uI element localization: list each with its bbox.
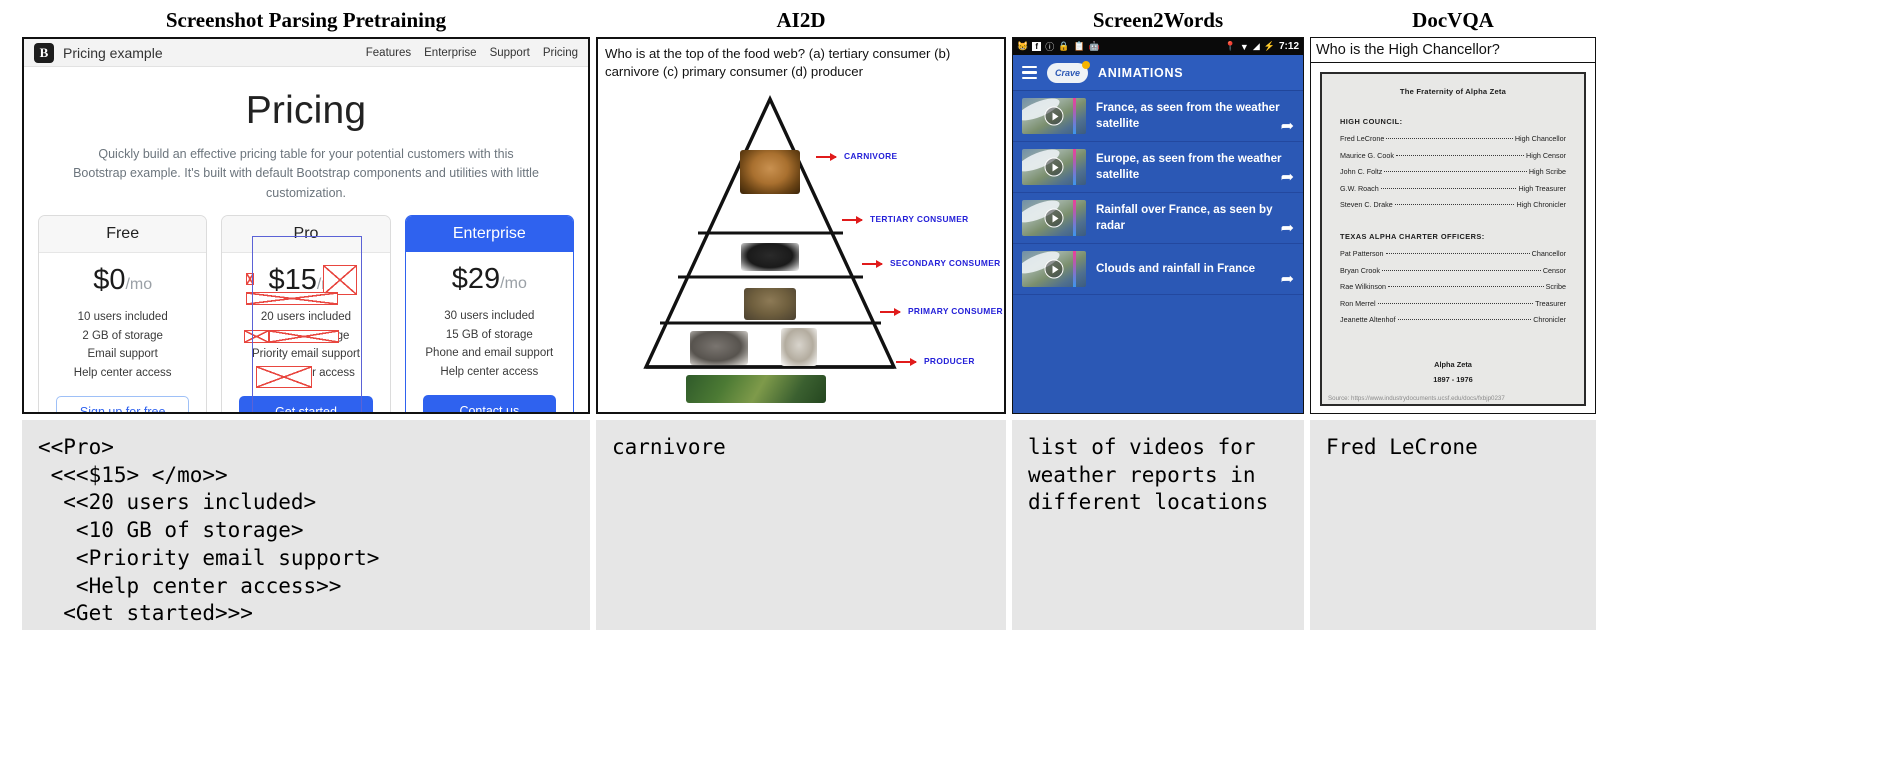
document-entry: John C. Foltz High Scribe [1340,168,1566,176]
screen2words-panel: 😸 f ⓘ 🔒 📋 🤖 📍 ▼ ◢ ⚡ 7:12 [1012,37,1304,414]
hero-section: Pricing Quickly build an effective prici… [24,67,588,203]
price-period: /mo [500,275,527,292]
entry-name: Steven C. Drake [1340,201,1393,209]
docvqa-panel: Who is the High Chancellor? The Fraterni… [1310,37,1596,414]
column-title: Screenshot Parsing Pretraining [22,0,590,31]
column-title: AI2D [596,0,1006,31]
feature-free-0: 10 users included [47,308,198,327]
occlusion-mask-helpcenter-b [269,330,339,343]
label-tertiary-consumer: TERTIARY CONSUMER [870,214,969,224]
navbar: B Pricing example Features Enterprise Su… [24,39,588,67]
share-icon[interactable]: ➦ [1281,218,1294,238]
document-footer: Alpha Zeta 1897 - 1976 [1340,358,1566,388]
status-bar: 😸 f ⓘ 🔒 📋 🤖 📍 ▼ ◢ ⚡ 7:12 [1013,38,1303,55]
signup-button[interactable]: Sign up for free [56,396,189,414]
column-screen2words: Screen2Words 😸 f ⓘ 🔒 📋 🤖 📍 ▼ ◢ ⚡ 7:12 [1012,0,1304,31]
leader-dots [1395,204,1515,205]
share-icon[interactable]: ➦ [1281,167,1294,187]
entry-name: Rae Wilkinson [1340,283,1386,291]
entry-role: Scribe [1546,283,1566,291]
pricing-cards: Free $0/mo 10 users included 2 GB of sto… [24,203,588,414]
battery-icon: ⚡ [1264,41,1275,52]
video-thumbnail[interactable] [1022,200,1086,236]
play-icon[interactable] [1045,158,1064,177]
status-right-icons: 📍 ▼ ◢ ⚡ 7:12 [1225,41,1299,52]
occlusion-mask-storage-line [246,292,338,305]
android-app-screenshot: 😸 f ⓘ 🔒 📋 🤖 📍 ▼ ◢ ⚡ 7:12 [1013,38,1303,413]
price-period: /mo [125,276,152,293]
location-icon: 📍 [1225,41,1236,52]
share-icon[interactable]: ➦ [1281,116,1294,136]
document-entry: Steven C. Drake High Chronicler [1340,201,1566,209]
footer-years: 1897 - 1976 [1340,373,1566,388]
entry-role: High Censor [1526,152,1566,160]
column-title: Screen2Words [1012,0,1304,31]
nav-link-support[interactable]: Support [490,47,530,59]
card-body-enterprise: $29/mo 30 users included 15 GB of storag… [406,252,573,414]
entry-name: Jeanette Altenhof [1340,316,1396,324]
figure-root: Screenshot Parsing Pretraining B Pricing… [0,0,1896,782]
list-item-label: Clouds and rainfall in France [1096,261,1294,277]
label-producer: PRODUCER [924,356,975,366]
price-free: $0/mo [47,266,198,295]
occlusion-mask-cta-label [256,366,312,388]
entry-name: Ron Merrel [1340,300,1376,308]
plants-image [686,375,826,403]
card-title-pro: Pro [222,216,389,253]
entry-role: High Scribe [1529,168,1566,176]
document-entry: Rae Wilkinson Scribe [1340,283,1566,291]
entry-name: Fred LeCrone [1340,135,1384,143]
price-amount: $29 [452,263,500,295]
arrow-secondary [862,263,882,265]
arrow-primary [880,311,900,313]
play-icon[interactable] [1045,107,1064,126]
document-entry: Ron Merrel Treasurer [1340,300,1566,308]
price-amount: $0 [93,264,125,296]
play-icon[interactable] [1045,209,1064,228]
nav-link-pricing[interactable]: Pricing [543,47,578,59]
footer-name: Alpha Zeta [1340,358,1566,373]
list-item[interactable]: France, as seen from the weather satelli… [1013,91,1303,142]
document-entry: Fred LeCrone High Chancellor [1340,135,1566,143]
eagle-image [741,243,799,271]
bootstrap-pricing-page: B Pricing example Features Enterprise Su… [24,39,588,412]
android-icon: 🤖 [1089,41,1100,52]
target-output-pricing: <<Pro> <<<$15> </mo>> <<20 users include… [22,420,590,630]
feature-free-1: 2 GB of storage [47,327,198,346]
bootstrap-logo-icon: B [34,43,54,63]
card-body-pro: $15/mo 20 users included 10 GB of storag… [222,253,389,414]
play-icon[interactable] [1045,260,1064,279]
occlusion-mask-price-period [323,265,357,295]
info-icon: ⓘ [1045,40,1054,53]
entry-role: Treasurer [1535,300,1566,308]
pricing-panel: B Pricing example Features Enterprise Su… [22,37,590,414]
clipboard-icon: 📋 [1073,41,1084,52]
list-item-label: Europe, as seen from the weather satelli… [1096,151,1294,182]
crave-logo-text: Crave [1055,68,1080,78]
status-clock: 7:12 [1279,41,1299,52]
column-docvqa: DocVQA Who is the High Chancellor? The F… [1310,0,1596,31]
navbar-links: Features Enterprise Support Pricing [366,47,578,59]
feature-free-3: Help center access [47,364,198,383]
share-icon[interactable]: ➦ [1281,269,1294,289]
card-title-free: Free [39,216,206,253]
list-item[interactable]: Europe, as seen from the weather satelli… [1013,142,1303,193]
lock-icon: 🔒 [1058,41,1069,52]
ai2d-panel: Who is at the top of the food web? (a) t… [596,37,1006,414]
feature-ent-0: 30 users included [414,307,565,326]
video-thumbnail[interactable] [1022,98,1086,134]
entry-role: Chronicler [1533,316,1566,324]
arrow-tertiary [842,219,862,221]
pricing-card-free: Free $0/mo 10 users included 2 GB of sto… [38,215,207,414]
document-entry: Pat Patterson Chancellor [1340,250,1566,258]
ai2d-question: Who is at the top of the food web? (a) t… [598,39,1004,81]
label-secondary-consumer: SECONDARY CONSUMER [890,258,1001,268]
entry-role: Chancellor [1532,250,1566,258]
video-thumbnail[interactable] [1022,251,1086,287]
get-started-button[interactable]: Get started [239,396,372,414]
entry-role: Censor [1543,267,1566,275]
document-entry: G.W. Roach High Treasurer [1340,185,1566,193]
card-title-enterprise: Enterprise [406,216,573,252]
feature-pro-0: 20 users included [230,308,381,327]
leader-dots [1381,188,1517,189]
hamburger-menu-icon[interactable] [1022,66,1037,79]
app-bar-title: ANIMATIONS [1098,66,1183,80]
leader-dots [1386,138,1513,139]
feature-ent-3: Help center access [414,363,565,382]
section-heading-texas-alpha: TEXAS ALPHA CHARTER OFFICERS: [1340,233,1566,241]
pricing-card-pro: Pro $15/mo 20 users included 10 GB of st… [221,215,390,414]
pricing-card-enterprise: Enterprise $29/mo 30 users included 15 G… [405,215,574,414]
occlusion-mask-users-digit [246,273,254,285]
target-output-docvqa: Fred LeCrone [1310,420,1596,630]
column-ai2d: AI2D Who is at the top of the food web? … [596,0,1006,31]
document-source-line: Source: https://www.industrydocuments.uc… [1322,396,1584,403]
feature-pro-2: Priority email support [230,345,381,364]
rabbit-image [781,328,817,366]
leader-dots [1386,253,1530,254]
rat-image [690,331,748,365]
feature-free-2: Email support [47,345,198,364]
occlusion-mask-helpcenter-a [244,330,269,343]
cat-app-icon: 😸 [1017,41,1028,52]
page-title: Pricing [24,89,588,133]
list-item[interactable]: Rainfall over France, as seen by radar ➦ [1013,193,1303,244]
leader-dots [1388,286,1544,287]
hero-subtitle: Quickly build an effective pricing table… [71,145,541,203]
docvqa-question: Who is the High Chancellor? [1311,38,1595,63]
target-output-ai2d: carnivore [596,420,1006,630]
entry-role: High Chronicler [1516,201,1566,209]
feature-ent-1: 15 GB of storage [414,326,565,345]
section-heading-high-council: HIGH COUNCIL: [1340,118,1566,126]
leader-dots [1382,270,1541,271]
leader-dots [1378,303,1534,304]
list-item-label: France, as seen from the weather satelli… [1096,100,1294,131]
list-item[interactable]: Clouds and rainfall in France ➦ [1013,244,1303,295]
navbar-brand[interactable]: Pricing example [63,45,163,61]
price-enterprise: $29/mo [414,265,565,294]
label-primary-consumer: PRIMARY CONSUMER [908,306,1003,316]
document-title: The Fraternity of Alpha Zeta [1340,88,1566,96]
facebook-icon: f [1032,42,1041,51]
signal-icon: ◢ [1253,41,1260,52]
nav-link-enterprise[interactable]: Enterprise [424,47,476,59]
arrow-carnivore [816,156,836,158]
contact-us-button[interactable]: Contact us [423,395,556,414]
lion-image [740,150,800,194]
leader-dots [1398,319,1532,320]
column-screenshot-parsing: Screenshot Parsing Pretraining B Pricing… [22,0,590,31]
logo-dot [1082,61,1090,69]
target-output-screen2words: list of videos for weather reports in di… [1012,420,1304,630]
entry-name: Maurice G. Cook [1340,152,1394,160]
document-entry: Jeanette Altenhof Chronicler [1340,316,1566,324]
label-carnivore: CARNIVORE [844,151,897,161]
entry-name: Pat Patterson [1340,250,1384,258]
document-entry: Maurice G. Cook High Censor [1340,152,1566,160]
food-pyramid-diagram: CARNIVORE TERTIARY CONSUMER SECONDARY CO… [598,93,1004,408]
column-title: DocVQA [1310,0,1596,31]
crave-logo-icon: Crave [1047,63,1088,83]
entry-name: John C. Foltz [1340,168,1382,176]
entry-role: High Chancellor [1515,135,1566,143]
list-item-label: Rainfall over France, as seen by radar [1096,202,1294,233]
entry-role: High Treasurer [1518,185,1566,193]
leader-dots [1396,155,1524,156]
card-body-free: $0/mo 10 users included 2 GB of storage … [39,253,206,414]
entry-name: G.W. Roach [1340,185,1379,193]
feature-ent-2: Phone and email support [414,344,565,363]
snake-rodent-image [744,288,796,320]
document-entry: Bryan Crook Censor [1340,267,1566,275]
arrow-producer [896,361,916,363]
leader-dots [1384,171,1527,172]
video-thumbnail[interactable] [1022,149,1086,185]
entry-name: Bryan Crook [1340,267,1380,275]
document-image: The Fraternity of Alpha Zeta HIGH COUNCI… [1320,72,1586,406]
nav-link-features[interactable]: Features [366,47,411,59]
app-bar: Crave ANIMATIONS [1013,55,1303,91]
wifi-icon: ▼ [1240,42,1249,52]
